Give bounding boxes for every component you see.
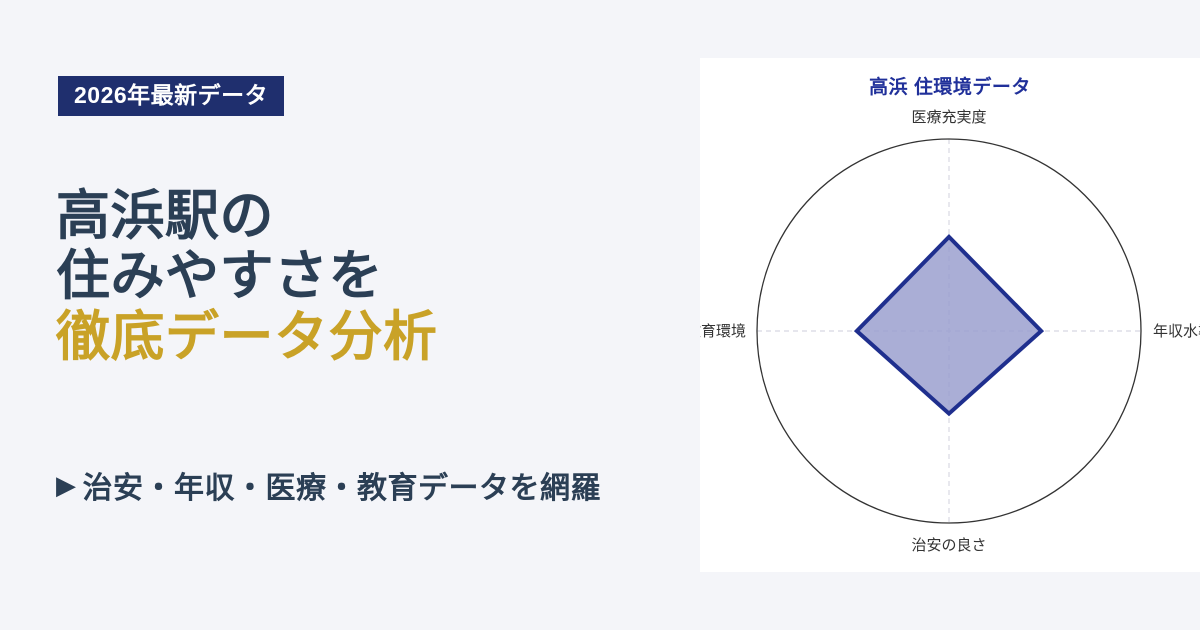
axis-label-right: 年収水準 <box>1153 323 1200 340</box>
radar-chart: 医療充実度 年収水準 治安の良さ 教育環境 <box>700 58 1200 572</box>
latest-data-badge: 2026年最新データ <box>58 76 284 116</box>
headline-line-3: 徹底データ分析 <box>56 307 676 367</box>
axis-label-bottom: 治安の良さ <box>911 537 986 554</box>
axis-label-left: 教育環境 <box>700 322 746 340</box>
triangle-bullet-icon: ▶ <box>56 472 77 498</box>
radar-data-polygon <box>857 237 1041 414</box>
page-title: 高浜駅の 住みやすさを 徹底データ分析 <box>56 186 676 367</box>
subtitle: ▶ 治安・年収・医療・教育データを網羅 <box>56 463 601 507</box>
poster-canvas: 2026年最新データ 高浜駅の 住みやすさを 徹底データ分析 ▶ 治安・年収・医… <box>0 0 1200 630</box>
headline-line-1: 高浜駅の <box>56 186 676 246</box>
subtitle-text: 治安・年収・医療・教育データを網羅 <box>83 463 602 507</box>
headline-line-2: 住みやすさを <box>56 246 676 306</box>
left-text-panel: 2026年最新データ 高浜駅の 住みやすさを 徹底データ分析 ▶ 治安・年収・医… <box>0 0 700 630</box>
radar-chart-card: 高浜 住環境データ 医療充実度 年収水準 治安の良さ 教育環境 <box>700 58 1200 572</box>
axis-label-top: 医療充実度 <box>911 109 986 126</box>
